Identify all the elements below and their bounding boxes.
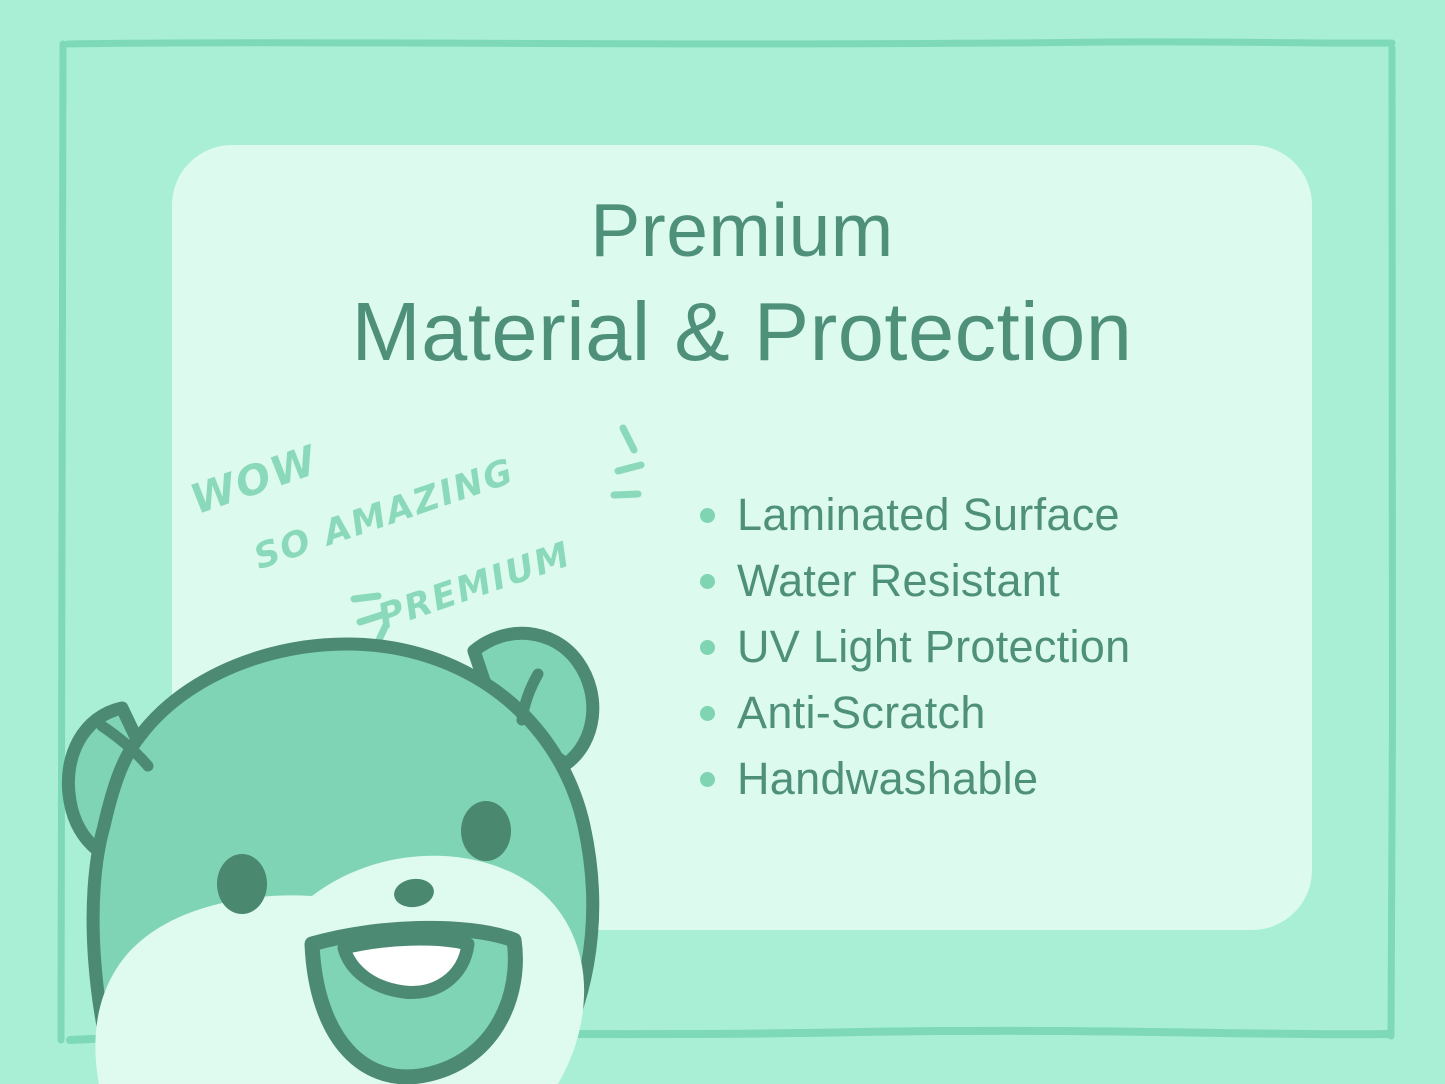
bullet-icon (700, 508, 715, 523)
feature-label: Anti-Scratch (737, 688, 986, 738)
bear-eye-left (217, 854, 267, 914)
page-title-line-1: Premium (172, 178, 1312, 282)
list-item: Water Resistant (700, 548, 1240, 614)
list-item: UV Light Protection (700, 614, 1240, 680)
list-item: Laminated Surface (700, 482, 1240, 548)
bear-mascot-icon (44, 596, 704, 1084)
promo-graphic: Premium Material & Protection WOW SO AMA… (0, 0, 1445, 1084)
list-item: Anti-Scratch (700, 680, 1240, 746)
feature-label: UV Light Protection (737, 622, 1130, 672)
heading-block: Premium Material & Protection (172, 178, 1312, 382)
feature-label: Water Resistant (737, 556, 1060, 606)
list-item: Handwashable (700, 746, 1240, 812)
bear-eye-right (461, 801, 511, 861)
bullet-icon (700, 574, 715, 589)
feature-label: Laminated Surface (737, 490, 1120, 540)
page-title-line-2: Material & Protection (172, 282, 1312, 382)
feature-label: Handwashable (737, 754, 1038, 804)
feature-list: Laminated Surface Water Resistant UV Lig… (700, 482, 1240, 812)
